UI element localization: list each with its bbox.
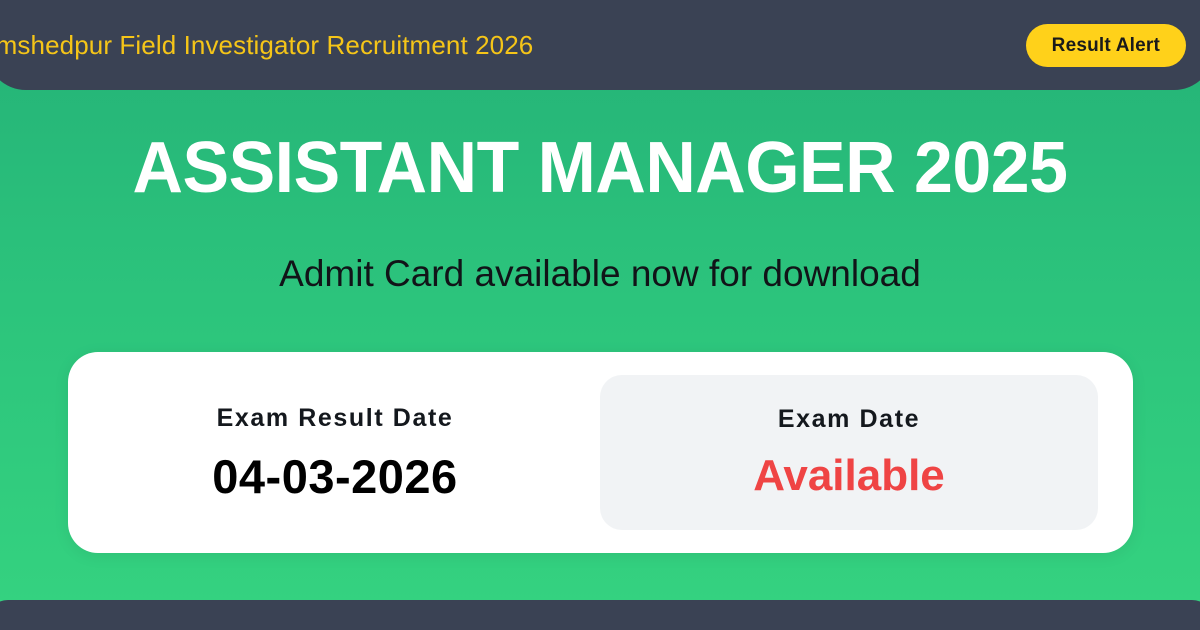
exam-title: ASSISTANT MANAGER 2025 — [18, 132, 1182, 204]
result-alert-banner: Jamshedpur Field Investigator Recruitmen… — [0, 0, 1200, 630]
exam-subtitle: Admit Card available now for download — [0, 255, 1200, 292]
footer-bar — [0, 600, 1200, 630]
stat-label: Exam Result Date — [217, 406, 454, 431]
page-title: Jamshedpur Field Investigator Recruitmen… — [0, 32, 533, 58]
info-card: Exam Result Date 04-03-2026 Exam Date Av… — [68, 352, 1133, 553]
stat-exam-result-date: Exam Result Date 04-03-2026 — [68, 352, 602, 553]
stat-value: Available — [753, 454, 945, 498]
stat-label: Exam Date — [778, 407, 920, 432]
main-content: ASSISTANT MANAGER 2025 Admit Card availa… — [0, 100, 1200, 612]
result-alert-badge[interactable]: Result Alert — [1026, 24, 1186, 67]
stat-value: 04-03-2026 — [212, 453, 457, 500]
header-bar: Jamshedpur Field Investigator Recruitmen… — [0, 0, 1200, 90]
stat-exam-date: Exam Date Available — [600, 375, 1098, 530]
